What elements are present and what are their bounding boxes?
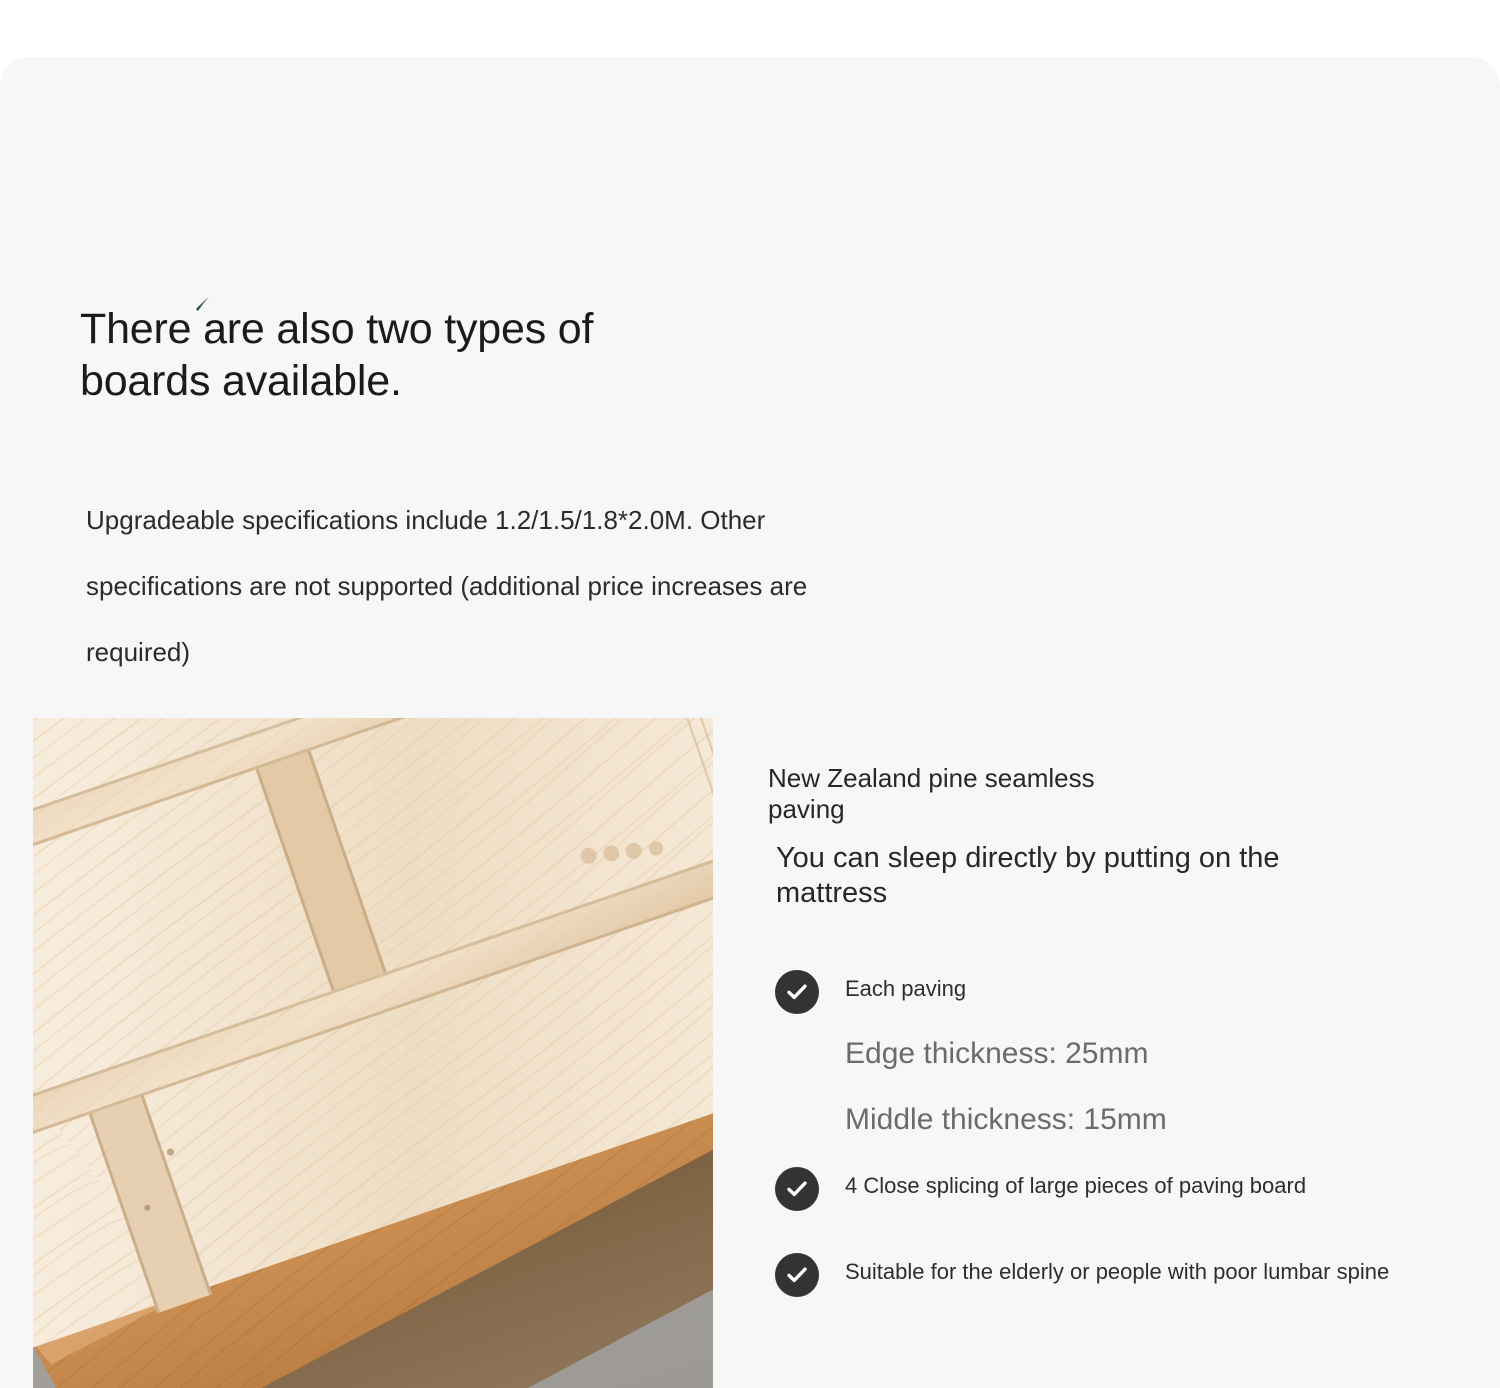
product-photo <box>33 718 713 1388</box>
page-title: There are also two types of boards avail… <box>80 303 780 408</box>
page-title-line-1: There are also two types of <box>80 303 780 355</box>
feature-item-each-paving: Each paving Edge thickness: 25mm Middle … <box>775 970 1495 1135</box>
feature-item-elderly-lumbar: Suitable for the elderly or people with … <box>775 1253 1495 1297</box>
check-circle-icon <box>775 1253 819 1297</box>
intro-paragraph: Upgradeable specifications include 1.2/1… <box>86 487 1006 685</box>
subheading-pine-paving: New Zealand pine seamless paving <box>768 763 1168 825</box>
middle-thickness-value: Middle thickness: 15mm <box>845 1105 1167 1135</box>
feature-title: Each paving <box>845 975 1167 1003</box>
product-photo-illustration <box>33 718 713 1388</box>
check-circle-icon <box>775 1167 819 1211</box>
feature-body: 4 Close splicing of large pieces of pavi… <box>845 1167 1345 1200</box>
check-circle-icon <box>775 970 819 1014</box>
feature-item-close-splicing: 4 Close splicing of large pieces of pavi… <box>775 1167 1495 1211</box>
intro-line-2: specifications are not supported (additi… <box>86 553 1006 619</box>
edge-thickness-value: Edge thickness: 25mm <box>845 1039 1167 1069</box>
feature-title: Suitable for the elderly or people with … <box>845 1258 1389 1286</box>
subheading-sleep-directly: You can sleep directly by putting on the… <box>776 841 1296 911</box>
page-root: There are also two types of boards avail… <box>0 0 1500 1388</box>
intro-line-1: Upgradeable specifications include 1.2/1… <box>86 487 1006 553</box>
content-card: There are also two types of boards avail… <box>0 57 1500 1388</box>
feature-body: Each paving Edge thickness: 25mm Middle … <box>845 970 1167 1135</box>
feature-title: 4 Close splicing of large pieces of pavi… <box>845 1172 1345 1200</box>
intro-line-3: required) <box>86 619 1006 685</box>
feature-body: Suitable for the elderly or people with … <box>845 1253 1389 1286</box>
feature-list: Each paving Edge thickness: 25mm Middle … <box>775 970 1495 1297</box>
page-title-line-2: boards available. <box>80 355 780 407</box>
right-column: New Zealand pine seamless paving You can… <box>768 763 1488 911</box>
